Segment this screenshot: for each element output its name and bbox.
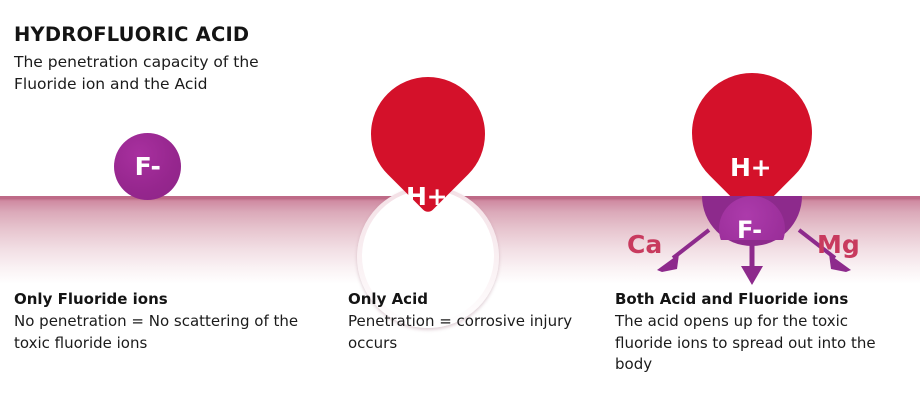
mineral-label-calcium: Ca bbox=[627, 232, 662, 257]
caption-body: Penetration = corrosive injury occurs bbox=[348, 311, 598, 354]
scene-acid-only: H+ bbox=[330, 0, 605, 284]
caption-fluoride-only: Only Fluoride ions No penetration = No s… bbox=[14, 290, 334, 354]
fluoride-ion-label: F- bbox=[135, 154, 161, 179]
fluoride-ion-circle: F- bbox=[114, 133, 181, 200]
scene-acid-and-fluoride: H+ F- Ca Mg bbox=[605, 0, 920, 284]
scene-fluoride-only: F- bbox=[0, 0, 330, 284]
mineral-label-magnesium: Mg bbox=[817, 232, 860, 257]
acid-droplet bbox=[667, 48, 837, 218]
caption-body: The acid opens up for the toxic fluoride… bbox=[615, 311, 910, 376]
caption-title: Only Fluoride ions bbox=[14, 290, 334, 308]
arrow-down-icon bbox=[735, 240, 769, 288]
acid-droplet-label: H+ bbox=[406, 184, 447, 209]
acid-droplet-label: H+ bbox=[730, 155, 771, 180]
caption-acid-only: Only Acid Penetration = corrosive injury… bbox=[348, 290, 598, 354]
caption-body: No penetration = No scattering of the to… bbox=[14, 311, 334, 354]
caption-acid-and-fluoride: Both Acid and Fluoride ions The acid ope… bbox=[615, 290, 910, 376]
caption-title: Both Acid and Fluoride ions bbox=[615, 290, 910, 308]
fluoride-ion-label: F- bbox=[737, 218, 762, 242]
caption-title: Only Acid bbox=[348, 290, 598, 308]
